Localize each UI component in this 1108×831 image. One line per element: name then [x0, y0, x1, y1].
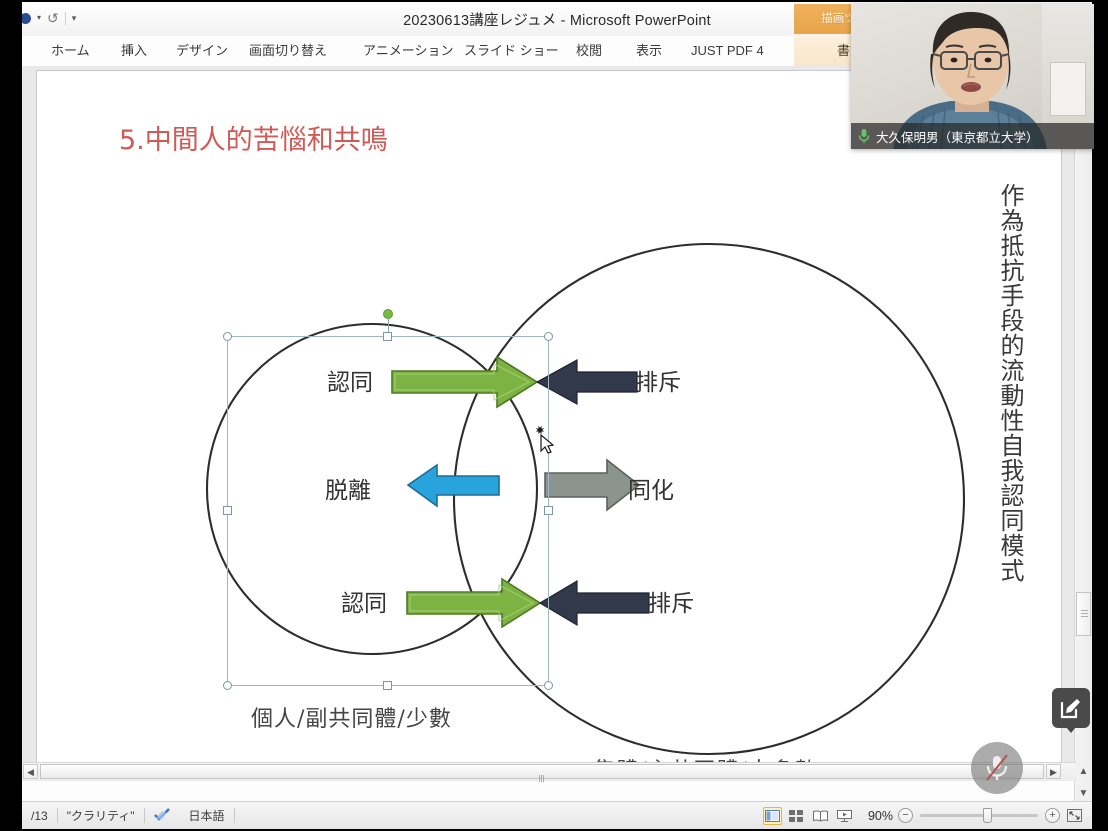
tab-design[interactable]: デザイン	[167, 36, 237, 66]
mouse-cursor	[529, 423, 559, 457]
scroll-right-arrow-icon[interactable]: ▶	[1046, 764, 1061, 779]
screen: ▾ ↺ ▾ 20230613講座レジュメ - Microsoft PowerPo…	[0, 0, 1108, 831]
resize-handle-nw[interactable]	[223, 332, 232, 341]
resize-handle-n[interactable]	[383, 332, 392, 341]
shape-selection-frame[interactable]	[227, 336, 549, 686]
vertical-scroll-thumb[interactable]	[1076, 592, 1091, 636]
horizontal-scrollbar[interactable]: ◀ ▶	[22, 762, 1076, 781]
view-slide-sorter-button[interactable]	[787, 807, 806, 825]
desktop-right-edge	[1092, 0, 1108, 831]
resize-handle-ne[interactable]	[544, 332, 553, 341]
view-reading-button[interactable]	[811, 807, 830, 825]
rotation-handle[interactable]	[383, 309, 393, 319]
spellcheck-icon[interactable]	[145, 807, 180, 824]
resize-handle-se[interactable]	[544, 681, 553, 690]
microphone-icon	[858, 128, 870, 144]
tab-animations[interactable]: アニメーション	[354, 36, 462, 66]
zoom-out-button[interactable]: −	[898, 808, 913, 823]
desktop-left-edge	[0, 0, 22, 831]
resize-handle-sw[interactable]	[223, 681, 232, 690]
pen-square-icon	[1060, 697, 1082, 719]
label-exclusion-top[interactable]: 排斥	[635, 363, 681, 397]
scroll-left-arrow-icon[interactable]: ◀	[23, 764, 38, 779]
status-bar: /13 "クラリティ" 日本語	[22, 801, 1092, 829]
video-overlay[interactable]: 大久保明男（東京都立大学）	[851, 4, 1094, 149]
theme-name[interactable]: "クラリティ"	[58, 807, 144, 824]
language-indicator[interactable]: 日本語	[180, 807, 234, 824]
zoom-level[interactable]: 90%	[859, 809, 893, 823]
zoom-slider-thumb[interactable]	[983, 808, 992, 823]
resize-handle-w[interactable]	[223, 506, 232, 515]
arrow-gray-middle[interactable]	[545, 460, 639, 510]
horizontal-scroll-thumb[interactable]	[40, 764, 1044, 779]
status-right-group: 90% − +	[763, 807, 1092, 825]
zoom-slider-track[interactable]	[920, 814, 1038, 817]
slide-counter[interactable]: /13	[22, 809, 57, 823]
arrow-dark-bottom[interactable]	[540, 581, 649, 625]
label-assimilation[interactable]: 同化	[628, 471, 674, 505]
resize-handle-e[interactable]	[544, 506, 553, 515]
view-slideshow-button[interactable]	[835, 807, 854, 825]
scroll-grip-icon	[1081, 610, 1088, 617]
tab-view[interactable]: 表示	[627, 36, 671, 66]
resize-handle-s[interactable]	[383, 681, 392, 690]
annotate-pen-button[interactable]	[1052, 688, 1090, 728]
tab-review[interactable]: 校閲	[567, 36, 611, 66]
tab-slideshow[interactable]: スライド ショー	[455, 36, 568, 66]
caption-minority[interactable]: 個人/副共同體/少數	[251, 701, 452, 733]
tab-just-pdf-4[interactable]: JUST PDF 4	[682, 36, 773, 66]
tab-transitions[interactable]: 画面切り替え	[240, 36, 336, 66]
label-exclusion-bottom[interactable]: 排斥	[648, 584, 694, 618]
slide-canvas[interactable]: 5.中間人的苦惱和共鳴	[36, 70, 1062, 778]
participant-name-bar: 大久保明男（東京都立大学）	[851, 123, 1094, 149]
status-divider-3	[234, 808, 235, 823]
vertical-note[interactable]: 作為抵抗手段的流動性自我認同模式	[983, 183, 1025, 583]
microphone-muted-icon	[983, 753, 1011, 783]
arrow-dark-top[interactable]	[537, 360, 637, 404]
tab-insert[interactable]: 挿入	[112, 36, 156, 66]
scroll-grip-icon-h	[539, 769, 545, 776]
view-normal-button[interactable]	[763, 807, 782, 825]
editing-work-area: 5.中間人的苦惱和共鳴	[22, 66, 1092, 781]
annotate-dropdown-caret-icon[interactable]	[1066, 727, 1076, 733]
fit-to-window-button[interactable]	[1065, 807, 1084, 825]
zoom-control[interactable]: − +	[898, 808, 1060, 823]
previous-slide-button[interactable]: ▲	[1076, 762, 1091, 782]
mute-microphone-button[interactable]	[971, 742, 1023, 794]
tab-home[interactable]: ホーム	[42, 36, 99, 66]
participant-name: 大久保明男（東京都立大学）	[876, 127, 1039, 146]
zoom-in-button[interactable]: +	[1045, 808, 1060, 823]
